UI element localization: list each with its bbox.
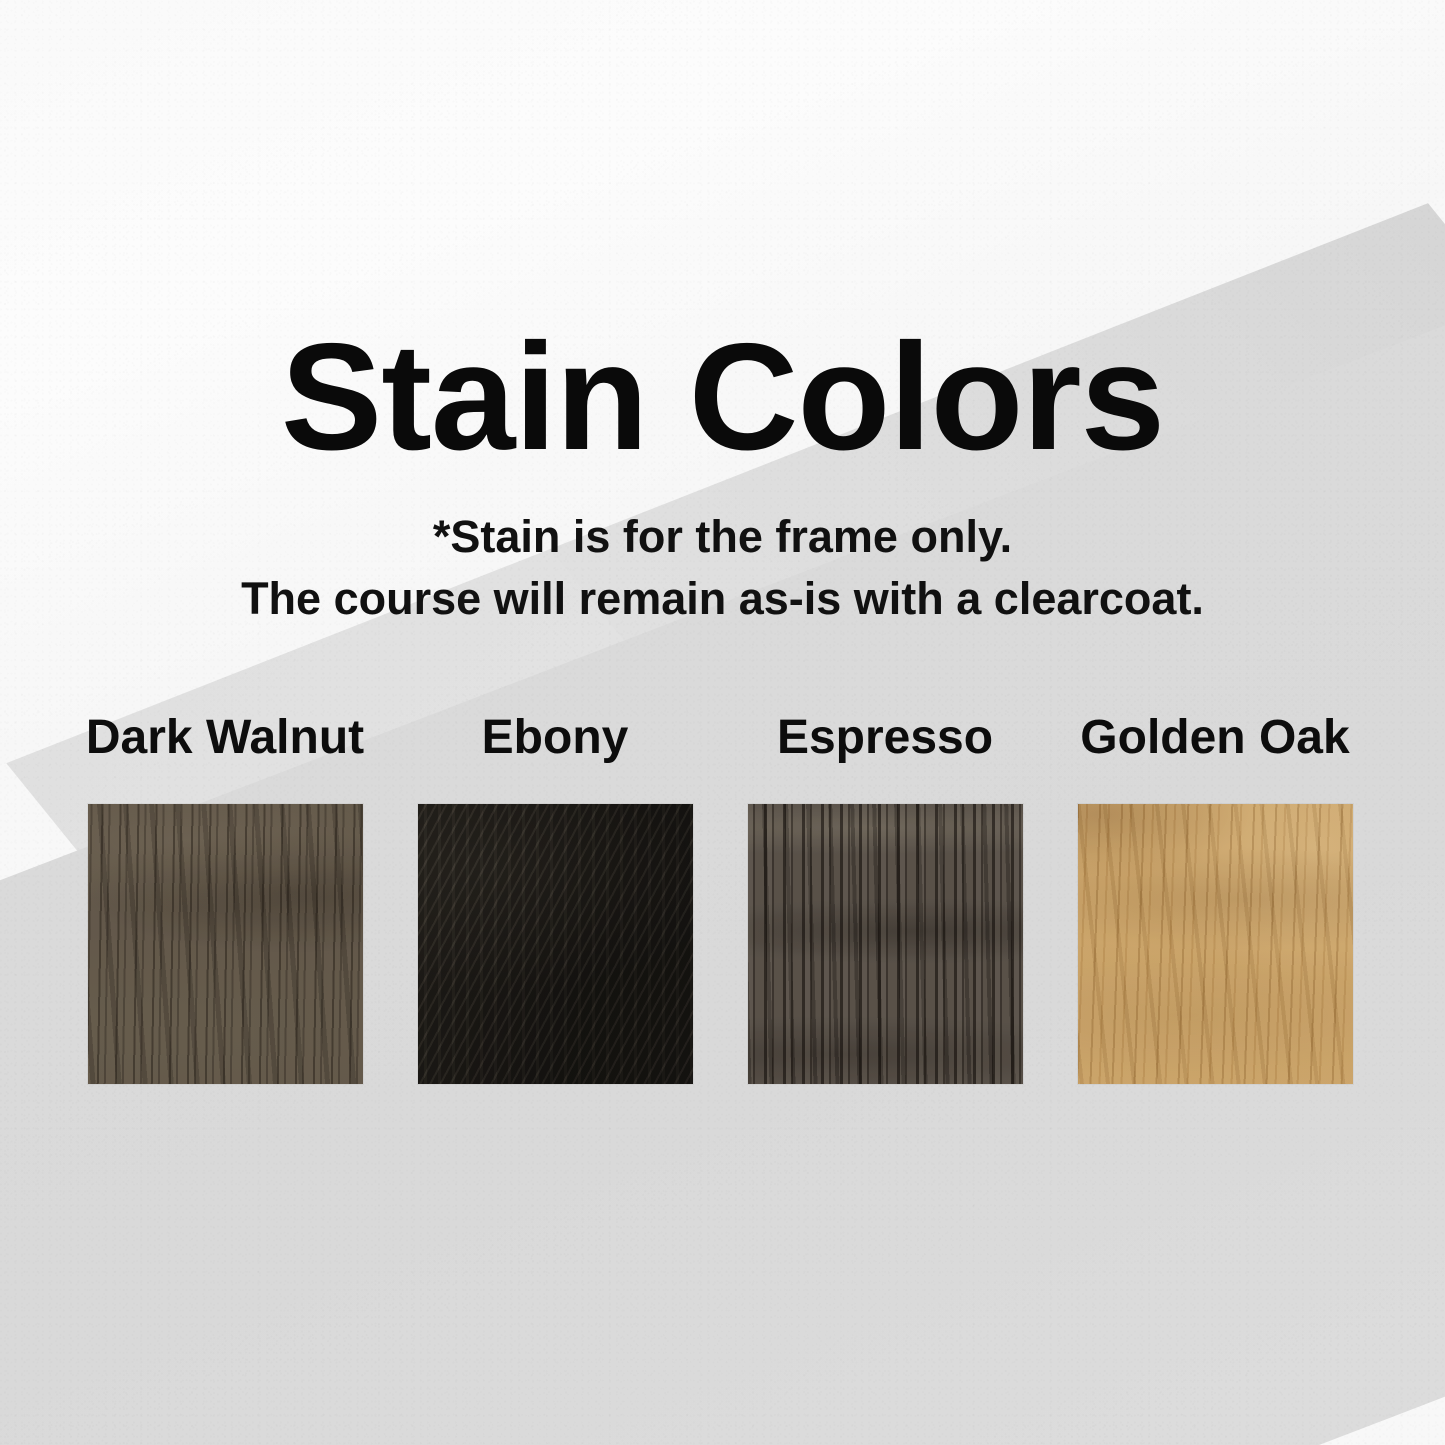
wood-grain-texture bbox=[418, 804, 693, 1084]
stain-swatch-row: Dark Walnut Ebony Espresso Golden Oak bbox=[75, 714, 1365, 1084]
content-area: Stain Colors *Stain is for the frame onl… bbox=[0, 0, 1445, 1445]
stain-colors-graphic: Stain Colors *Stain is for the frame onl… bbox=[0, 0, 1445, 1445]
dark-walnut-swatch[interactable] bbox=[88, 804, 363, 1084]
page-subtitle: *Stain is for the frame only. The course… bbox=[0, 506, 1445, 630]
subtitle-line-1: *Stain is for the frame only. bbox=[0, 506, 1445, 568]
subtitle-line-2: The course will remain as-is with a clea… bbox=[0, 568, 1445, 630]
wood-grain-texture bbox=[88, 804, 363, 1084]
swatch-item-espresso[interactable]: Espresso bbox=[735, 714, 1035, 1084]
golden-oak-swatch[interactable] bbox=[1078, 804, 1353, 1084]
swatch-label-dark-walnut: Dark Walnut bbox=[86, 714, 364, 762]
swatch-item-ebony[interactable]: Ebony bbox=[405, 714, 705, 1084]
wood-grain-texture bbox=[1078, 804, 1353, 1084]
swatch-label-golden-oak: Golden Oak bbox=[1080, 714, 1349, 762]
ebony-swatch[interactable] bbox=[418, 804, 693, 1084]
page-title: Stain Colors bbox=[0, 318, 1445, 478]
espresso-swatch[interactable] bbox=[748, 804, 1023, 1084]
swatch-item-golden-oak[interactable]: Golden Oak bbox=[1065, 714, 1365, 1084]
swatch-label-ebony: Ebony bbox=[482, 714, 629, 762]
swatch-label-espresso: Espresso bbox=[777, 714, 993, 762]
wood-grain-texture bbox=[748, 804, 1023, 1084]
swatch-item-dark-walnut[interactable]: Dark Walnut bbox=[75, 714, 375, 1084]
